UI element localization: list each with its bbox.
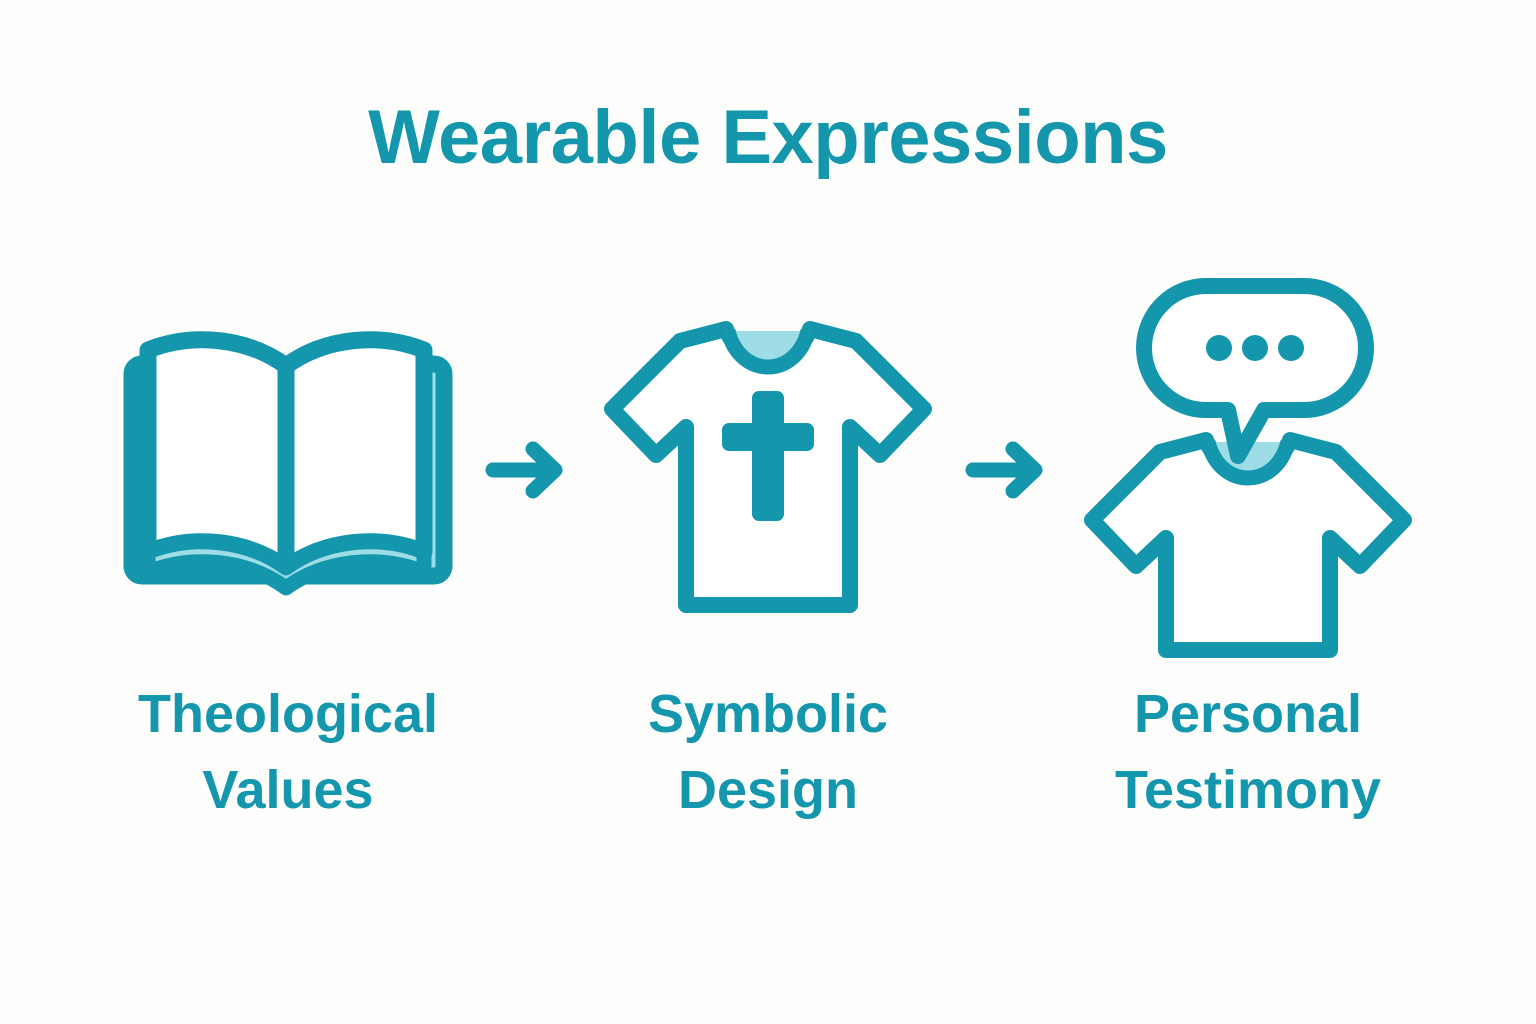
flow-step-label-line1: Personal: [1115, 676, 1381, 752]
open-book-icon: [108, 270, 468, 670]
process-flow: Theological Values: [0, 270, 1536, 890]
flow-step-label-line2: Values: [138, 752, 438, 828]
flow-step-personal-testimony: Personal Testimony: [1068, 270, 1428, 828]
arrow-right-icon: [948, 270, 1068, 670]
flow-step-label: Symbolic Design: [648, 676, 888, 828]
flow-step-label-line1: Symbolic: [648, 676, 888, 752]
infographic-canvas: Wearable Expressions: [0, 0, 1536, 1024]
flow-step-label: Theological Values: [138, 676, 438, 828]
flow-step-label-line2: Testimony: [1115, 752, 1381, 828]
page-title: Wearable Expressions: [0, 92, 1536, 184]
flow-step-symbolic-design: Symbolic Design: [588, 270, 948, 828]
arrow-right-icon: [468, 270, 588, 670]
flow-step-label: Personal Testimony: [1115, 676, 1381, 828]
flow-step-label-line1: Theological: [138, 676, 438, 752]
tshirt-cross-icon: [588, 270, 948, 670]
tshirt-speech-bubble-icon: [1068, 270, 1428, 670]
flow-step-label-line2: Design: [648, 752, 888, 828]
flow-step-theological-values: Theological Values: [108, 270, 468, 828]
